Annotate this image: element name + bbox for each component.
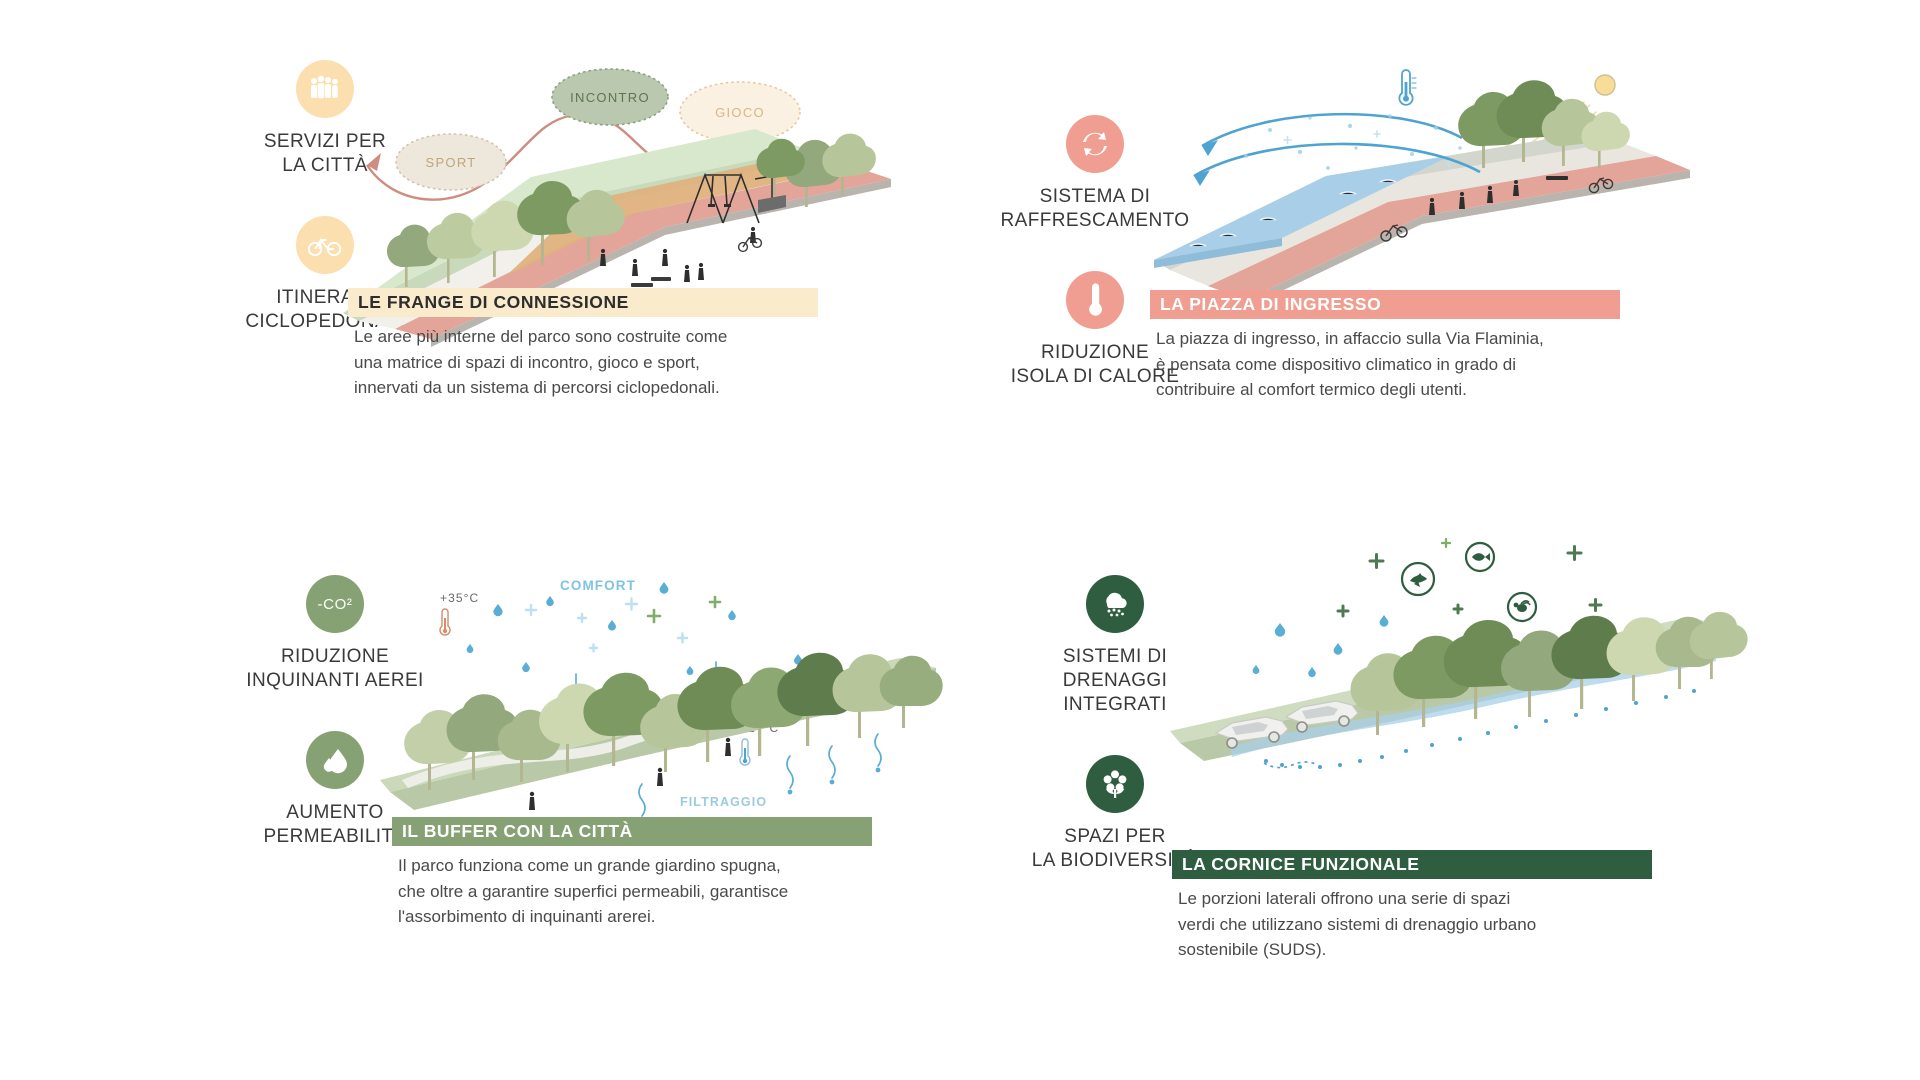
illustration-cornice: [1170, 495, 1730, 835]
caption-title: LE FRANGE DI CONNESSIONE: [348, 288, 818, 317]
annotation-temp-outside: +35°C: [440, 591, 479, 605]
infographic-board: SERVIZI PER LA CITTÀ ITINERARI CICLOPEDO…: [0, 0, 1920, 1080]
cyclist: [739, 237, 762, 251]
sun-icon: [1595, 75, 1615, 95]
panel-cornice: SISTEMI DI DRENAGGI INTEGRATI: [1020, 575, 1720, 995]
caption-title: IL BUFFER CON LA CITTÀ: [392, 817, 872, 846]
panel-piazza: SISTEMA DI RAFFRESCAMENTO RIDUZIONE ISOL…: [1000, 60, 1680, 480]
bubble-gioco: GIOCO: [715, 105, 765, 120]
flower-icon: [1086, 755, 1144, 813]
co2-reduction-icon: -CO²: [306, 575, 364, 633]
thermometer-icon: [440, 609, 450, 635]
bubble-sport: SPORT: [425, 155, 476, 170]
annotation-comfort: COMFORT: [560, 578, 636, 593]
caption-body: Le aree più interne del parco sono costr…: [348, 317, 818, 399]
svg-text:-CO²: -CO²: [318, 596, 353, 613]
benches: [631, 277, 671, 287]
caption-title: LA PIAZZA DI INGRESSO: [1150, 290, 1620, 319]
caption-cornice: LA CORNICE FUNZIONALE Le porzioni latera…: [1172, 850, 1652, 962]
thermometer-icon: [1066, 271, 1124, 329]
rain-drops: [467, 582, 802, 689]
water-drop-icon: [306, 731, 364, 789]
caption-frange: LE FRANGE DI CONNESSIONE Le aree più int…: [348, 288, 818, 400]
sparkle-plus: [526, 599, 687, 652]
panel-frange: SERVIZI PER LA CITTÀ ITINERARI CICLOPEDO…: [230, 60, 880, 480]
caption-body: La piazza di ingresso, in affaccio sulla…: [1150, 319, 1620, 401]
rain-cloud-icon: [1086, 575, 1144, 633]
thermometer-icon: [1399, 70, 1416, 105]
biodiversity-badges: [1402, 543, 1536, 621]
caption-title: LA CORNICE FUNZIONALE: [1172, 850, 1652, 879]
cooling-cycle-icon: [1066, 115, 1124, 173]
bubble-incontro: INCONTRO: [570, 90, 650, 105]
caption-body: Le porzioni laterali offrono una serie d…: [1172, 879, 1652, 961]
caption-body: Il parco funziona come un grande giardin…: [392, 846, 872, 928]
panel-buffer: -CO² RIDUZIONE INQUINANTI AEREI AUMENTO …: [240, 575, 930, 995]
annotation-filtraggio: FILTRAGGIO: [680, 795, 767, 809]
caption-piazza: LA PIAZZA DI INGRESSO La piazza di ingre…: [1150, 290, 1620, 402]
thermometer-icon: [740, 739, 750, 765]
caption-buffer: IL BUFFER CON LA CITTÀ Il parco funziona…: [392, 817, 872, 929]
